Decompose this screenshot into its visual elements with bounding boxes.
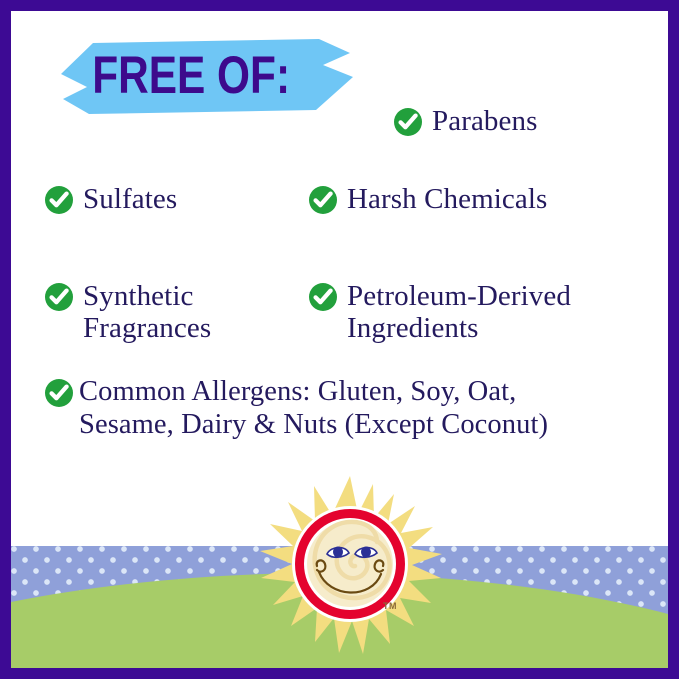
list-item-label: Petroleum-Derived Ingredients: [347, 280, 571, 345]
check-circle-icon: [308, 282, 338, 312]
check-circle-icon: [44, 378, 74, 408]
border-left: [0, 0, 11, 679]
list-item-label: Harsh Chemicals: [347, 183, 547, 215]
sun-face-logo: [257, 474, 443, 656]
check-circle-icon: [44, 185, 74, 215]
check-circle-icon: [393, 107, 423, 137]
check-circle-icon: [308, 185, 338, 215]
banner-title: FREE OF:: [61, 37, 301, 114]
list-item-label: Sulfates: [83, 183, 177, 215]
border-top: [0, 0, 679, 11]
list-item-label: Synthetic Fragrances: [83, 280, 211, 345]
list-item-label: Parabens: [432, 105, 538, 137]
border-right: [668, 0, 679, 679]
list-item: Synthetic Fragrances: [44, 280, 211, 345]
list-item: Petroleum-Derived Ingredients: [308, 280, 571, 345]
list-item: Sulfates: [44, 183, 177, 215]
free-of-banner: FREE OF:: [61, 37, 361, 114]
free-of-card: FREE OF: Parabens Sulfates: [0, 0, 679, 679]
list-item: Harsh Chemicals: [308, 183, 547, 215]
check-circle-icon: [44, 282, 74, 312]
list-item: Parabens: [393, 105, 538, 137]
border-bottom: [0, 668, 679, 679]
list-item: Common Allergens: Gluten, Soy, Oat, Sesa…: [44, 376, 548, 442]
list-item-label: Common Allergens: Gluten, Soy, Oat, Sesa…: [79, 376, 548, 442]
card-canvas: FREE OF: Parabens Sulfates: [11, 11, 668, 668]
trademark-mark: TM: [383, 601, 397, 611]
